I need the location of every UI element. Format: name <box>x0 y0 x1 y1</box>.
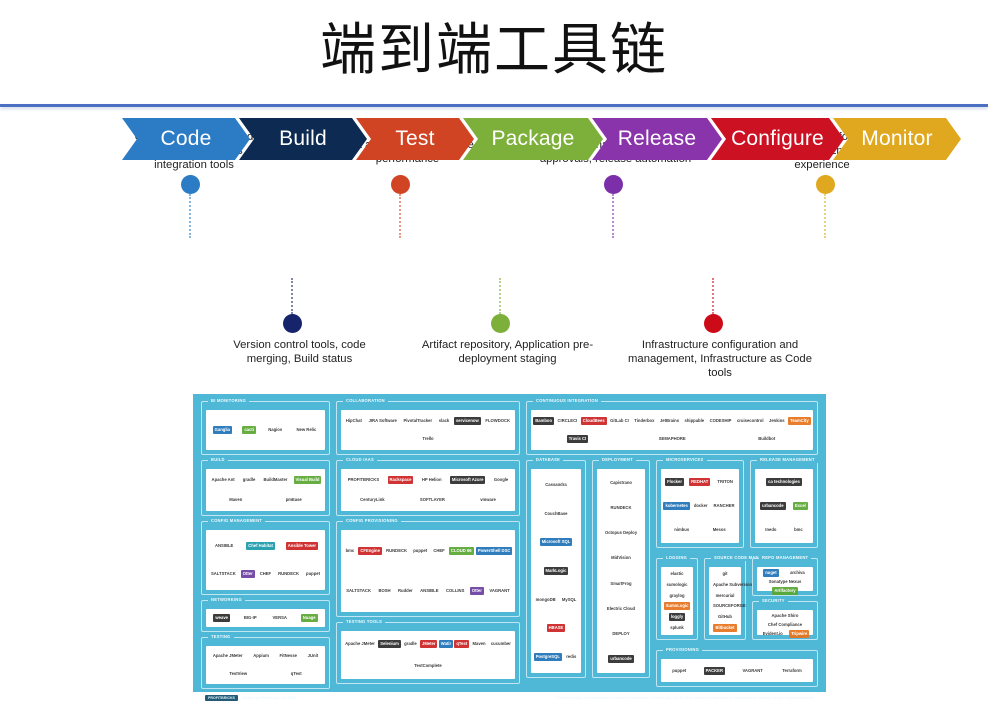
tool-logo: SEMAPHORE <box>657 435 688 443</box>
tool-logo: PACKER <box>704 667 725 675</box>
tool-logo: Inedo <box>763 526 778 534</box>
tool-logo: CouchBase <box>542 510 569 518</box>
tool-logo: Chef Habitat <box>246 542 275 550</box>
pipeline-bottom-stem-2 <box>712 278 714 314</box>
tool-logo: loggly <box>669 613 685 621</box>
tool-logo: Microsoft Azure <box>450 476 486 484</box>
poster-section-title: CONTINUOUS INTEGRATION <box>533 398 601 404</box>
tool-logo: CFEngine <box>358 547 382 555</box>
tool-logo: sumologic <box>665 581 690 589</box>
tool-logo: PROFITBRICKS <box>346 476 381 484</box>
tool-logo: Flocker <box>665 478 684 486</box>
tool-logo: bmc <box>344 547 357 555</box>
poster-section-logging: LOGGINGelasticsumologicgraylogSumoLogicl… <box>656 558 698 640</box>
tool-logo: VERSA <box>270 614 288 622</box>
tool-logo: Travis CI <box>567 435 588 443</box>
poster-subrow-1: MICROSERVICESFlockerREDHATTRITONkubernet… <box>656 460 818 548</box>
tool-logo: Appium <box>251 652 271 660</box>
tool-logo: FLOWDOCK <box>483 417 512 425</box>
tool-logo: cruisecontrol <box>735 417 766 425</box>
tool-logo: Cassandra <box>543 481 568 489</box>
page-title: 端到端工具链 <box>0 8 988 94</box>
poster-band-main: BUILDApache AntgradleBuildMasterVisual B… <box>201 460 818 689</box>
tool-logo: New Relic <box>295 426 319 434</box>
tool-logo: redis <box>564 653 578 661</box>
tool-logo: DEPLOY <box>610 630 631 638</box>
tool-logo: CenturyLink <box>358 496 386 504</box>
tool-logo: Mesos <box>711 526 728 534</box>
poster-logo-group: FlockerREDHATTRITONkubernetesdockerRANCH… <box>661 469 739 543</box>
tool-logo: Apache JMeter <box>343 640 377 648</box>
poster-subrow-2: LOGGINGelasticsumologicgraylogSumoLogicl… <box>656 558 818 640</box>
tool-logo: kubernetes <box>663 502 689 510</box>
tool-logo: Otter <box>470 587 484 595</box>
tool-logo: CIRCLECI <box>556 417 580 425</box>
poster-column-mid: COLLABORATIONHipChatJIRA SoftwarePivotal… <box>336 401 520 455</box>
poster-column-left: BI MONITORINGGangliacactiNagiosNew Relic <box>201 401 330 455</box>
tool-logo: Tinderbox <box>632 417 656 425</box>
poster-band-top: BI MONITORINGGangliacactiNagiosNew Relic… <box>201 401 818 455</box>
tool-logo: Bitbucket <box>713 624 736 632</box>
poster-section-title: BI MONITORING <box>208 398 249 404</box>
poster-logo-group: gitApache SubversionmercurialSOURCEFORGE… <box>709 567 741 635</box>
tool-logo: TestView <box>227 670 249 678</box>
poster-sub-microservices: MICROSERVICESFlockerREDHATTRITONkubernet… <box>656 460 744 548</box>
poster-col-b: CLOUD IAASPROFITBRICKSRackspaceHP Helion… <box>336 460 520 689</box>
poster-sub-logging: LOGGINGelasticsumologicgraylogSumoLogicl… <box>656 558 698 640</box>
tool-logo: RANCHER <box>712 502 737 510</box>
tool-logo: urbancode <box>760 502 785 510</box>
tool-logo: nimbus <box>672 526 691 534</box>
tool-logo: graylog <box>667 592 686 600</box>
tool-logo: TRITON <box>715 478 735 486</box>
poster-section-title: MICROSERVICES <box>663 457 707 463</box>
tool-logo: mongoDB <box>534 596 558 604</box>
poster-section-title: NETWORKING <box>208 597 245 603</box>
tool-logo: TeamCity <box>788 417 811 425</box>
tool-logo: Capistrano <box>608 479 634 487</box>
tool-logo: JMeter <box>420 640 438 648</box>
tool-logo: Jenkins <box>767 417 787 425</box>
tool-logo: REDHAT <box>689 478 710 486</box>
pipeline-stage-code[interactable]: Code <box>122 118 250 160</box>
poster-section-testing: TESTINGApache JMeterAppiumFitNesseJUnitT… <box>201 637 330 689</box>
poster-section-source-code-management: SOURCE CODE MANAGEMENTgitApache Subversi… <box>704 558 746 640</box>
tool-logo: Electric Cloud <box>605 605 637 613</box>
pipeline-top-dot-3 <box>816 175 835 194</box>
tool-logo: gradle <box>402 640 419 648</box>
tool-logo: Selenium <box>378 640 401 648</box>
pipeline-stage-release[interactable]: Release <box>592 118 722 160</box>
poster-section-build: BUILDApache AntgradleBuildMasterVisual B… <box>201 460 330 516</box>
poster-logo-group: Apache ShiroChef ComplianceEvident.ioTri… <box>757 610 813 635</box>
poster-brand: PROFITBRICKS <box>205 695 238 701</box>
poster-col-a: BUILDApache AntgradleBuildMasterVisual B… <box>201 460 330 689</box>
poster-subrow-3: PROVISIONINGpuppetPACKERVAGRANTTerraform <box>656 650 818 687</box>
tool-logo: Chef Compliance <box>766 621 804 629</box>
tool-logo: git <box>720 570 729 578</box>
tool-logo: HipChat <box>344 417 364 425</box>
poster-sub-release: RELEASE MANAGEMENTca technologiesurbanco… <box>750 460 818 548</box>
tool-logo: cacti <box>242 426 256 434</box>
tool-logo: Octopus Deploy <box>603 529 639 537</box>
poster-sub-scm: SOURCE CODE MANAGEMENTgitApache Subversi… <box>704 558 746 640</box>
tool-logo: Apache Ant <box>210 476 237 484</box>
poster-logo-group: elasticsumologicgraylogSumoLogiclogglysp… <box>661 567 693 635</box>
tool-logo: Google <box>492 476 510 484</box>
pipeline-top-stem-0 <box>189 194 191 238</box>
poster-section-title: RELEASE MANAGEMENT <box>757 457 818 463</box>
tool-logo: RUNDECK <box>276 570 301 578</box>
tool-logo: HBASE <box>547 624 566 632</box>
poster-legal: ProfitBricks logo are trademarks or regi… <box>556 695 814 701</box>
poster-logo-group: HipChatJIRA SoftwarePivotalTrackerslacks… <box>341 410 515 450</box>
tool-logo: Watir <box>439 640 453 648</box>
poster-section-security: SECURITYApache ShiroChef ComplianceEvide… <box>752 601 818 640</box>
poster-section-networking: NETWORKINGweaveBIG-IPVERSANuage <box>201 600 330 632</box>
poster-section-config-management: CONFIG MANAGEMENTANSIBLEChef HabitatAnsi… <box>201 521 330 595</box>
poster-logo-group: Apache JMeterSeleniumgradleJMeterWatirqT… <box>341 631 515 679</box>
pipeline-stage-package[interactable]: Package <box>463 118 603 160</box>
tool-logo: Rudder <box>396 587 415 595</box>
tool-logo: BIG-IP <box>242 614 259 622</box>
poster-section-title: COLLABORATION <box>343 398 388 404</box>
pipeline-bottom-dot-1 <box>491 314 510 333</box>
tool-logo: Bamboo <box>533 417 554 425</box>
poster-section-title: TESTING TOOLS <box>343 619 385 625</box>
pipeline-top-dot-0 <box>181 175 200 194</box>
tool-logo: GitLab CI <box>608 417 631 425</box>
pipeline-stage-test[interactable]: Test <box>356 118 474 160</box>
poster-section-microservices: MICROSERVICESFlockerREDHATTRITONkubernet… <box>656 460 744 548</box>
tool-logo: archiva <box>788 569 807 577</box>
tool-logo: Microsoft SQL <box>540 538 573 546</box>
tool-logo: puppet <box>670 667 688 675</box>
tool-logo: Terraform <box>780 667 803 675</box>
poster-section-title: TESTING <box>208 634 234 640</box>
tool-logo: ANSIBLE <box>418 587 440 595</box>
tool-logo: PowerShell DSC <box>476 547 513 555</box>
pipeline-stage-label: Release <box>618 127 696 151</box>
tool-logo: Artifactory <box>772 587 797 595</box>
poster-col-right: MICROSERVICESFlockerREDHATTRITONkubernet… <box>656 460 818 689</box>
pipeline-top-stem-3 <box>824 194 826 238</box>
poster-logo-group: PROFITBRICKSRackspaceHP HelionMicrosoft … <box>341 469 515 511</box>
poster-section-config-provisioning: CONFIG PROVISIONINGbmcCFEngineRUNDECKpup… <box>336 521 520 617</box>
poster-logo-group: ca technologiesurbancodeExcelInedobmc <box>755 469 813 543</box>
tool-logo: Maven <box>227 496 244 504</box>
poster-logo-group: BambooCIRCLECICloudBeesGitLab CITinderbo… <box>531 410 813 450</box>
pipeline-stage-label: Build <box>279 127 327 151</box>
pipeline-stage-monitor[interactable]: Monitor <box>833 118 961 160</box>
poster-section-title: CONFIG PROVISIONING <box>343 518 401 524</box>
tool-logo: BuildMaster <box>261 476 289 484</box>
tool-logo: docker <box>692 502 710 510</box>
poster-section-title: CONFIG MANAGEMENT <box>208 518 265 524</box>
tool-logo: SmartFrog <box>608 580 633 588</box>
poster-logo-group: CassandraCouchBaseMicrosoft SQLMarkLogic… <box>531 469 581 673</box>
tool-logo: Ganglia <box>213 426 232 434</box>
poster-section-title: LOGGING <box>663 555 690 561</box>
tool-logo: Nagios <box>266 426 284 434</box>
tool-logo: Sonatype Nexus <box>767 578 804 586</box>
tool-logo: VAGRANT <box>487 587 511 595</box>
tool-logo: Evident.io <box>761 630 785 638</box>
tool-logo: VAGRANT <box>740 667 764 675</box>
poster-col-deployment: DEPLOYMENTCapistranoRUNDECKOctopus Deplo… <box>592 460 650 689</box>
tool-logo: CloudBees <box>581 417 607 425</box>
poster-section-release-management: RELEASE MANAGEMENTca technologiesurbanco… <box>750 460 818 548</box>
tool-logo: RUNDECK <box>384 547 409 555</box>
poster-section-title: DEPLOYMENT <box>599 457 636 463</box>
tool-logo: cucumber <box>489 640 513 648</box>
tool-logo: Otter <box>241 570 255 578</box>
tool-logo: Trello <box>420 435 435 443</box>
poster-section-title: CLOUD IAAS <box>343 457 377 463</box>
poster-logo-group: nugetarchivaSonatype NexusArtifactory <box>757 567 813 591</box>
tool-logo: SOFTLAYER <box>418 496 447 504</box>
poster-logo-group: Apache JMeterAppiumFitNesseJUnitTestView… <box>206 646 325 684</box>
poster-section-cloud-iaas: CLOUD IAASPROFITBRICKSRackspaceHP Helion… <box>336 460 520 516</box>
tool-logo: JUnit <box>306 652 320 660</box>
poster-logo-group: CapistranoRUNDECKOctopus DeployMidVision… <box>597 469 645 673</box>
tool-logo: MySQL <box>560 596 578 604</box>
tool-logo: FitNesse <box>278 652 299 660</box>
tool-logo: GitHub <box>716 613 734 621</box>
pipeline-stage-configure[interactable]: Configure <box>711 118 844 160</box>
tool-logo: pmEase <box>284 496 304 504</box>
tool-logo: COLLINS <box>444 587 466 595</box>
tool-logo: MidVision <box>609 554 633 562</box>
tool-logo: TestComplete <box>412 662 443 670</box>
tool-logo: Rackspace <box>388 476 414 484</box>
poster-logo-group: Apache AntgradleBuildMasterVisual BuildM… <box>206 469 325 511</box>
poster-section-continuous-integration: CONTINUOUS INTEGRATIONBambooCIRCLECIClou… <box>526 401 818 455</box>
tool-logo: Ansible Tower <box>286 542 318 550</box>
tool-logo: puppet <box>304 570 322 578</box>
tool-logo: ANSIBLE <box>213 542 235 550</box>
tool-logo: qTest <box>454 640 469 648</box>
tool-logo: CHEF <box>431 547 446 555</box>
tool-logo: CODESHIP <box>708 417 734 425</box>
poster-section-title: PROVISIONING <box>663 647 702 653</box>
poster-credit: Created by ProfitBricks, Inc. 2015 <box>242 695 296 701</box>
poster-logo-group: weaveBIG-IPVERSANuage <box>206 609 325 627</box>
pipeline-stage-build[interactable]: Build <box>239 118 367 160</box>
pipeline-stage-label: Configure <box>731 127 824 151</box>
tool-logo: Visual Build <box>294 476 322 484</box>
pipeline-top-dot-2 <box>604 175 623 194</box>
tool-logo: SOURCEFORGE <box>711 602 748 610</box>
poster-section-deployment: DEPLOYMENTCapistranoRUNDECKOctopus Deplo… <box>592 460 650 678</box>
tool-logo: urbancode <box>608 655 633 663</box>
pipeline-bottom-dot-0 <box>283 314 302 333</box>
tool-logo: qTest <box>289 670 304 678</box>
tool-logo: JetBrains <box>658 417 681 425</box>
tool-logo: MarkLogic <box>544 567 569 575</box>
tool-logo: Tripwire <box>789 630 809 638</box>
tool-logo: slack <box>437 417 451 425</box>
tool-logo: HP Helion <box>420 476 444 484</box>
tool-logo: shippable <box>683 417 707 425</box>
tool-logo: Maven <box>471 640 488 648</box>
tool-logo: PivotalTracker <box>401 417 434 425</box>
tool-logo: CLOUD 66 <box>449 547 474 555</box>
pipeline-stage-label: Code <box>160 127 211 151</box>
poster-section-provisioning: PROVISIONINGpuppetPACKERVAGRANTTerraform <box>656 650 818 687</box>
tool-logo: SALTSTACK <box>209 570 238 578</box>
tool-logo: splunk <box>668 624 686 632</box>
tool-logo: ca technologies <box>766 478 802 486</box>
pipeline-bottom-stem-0 <box>291 278 293 314</box>
poster-logo-group: ANSIBLEChef HabitatAnsible TowerSALTSTAC… <box>206 530 325 590</box>
poster-section-repo-management: REPO MANAGEMENTnugetarchivaSonatype Nexu… <box>752 558 818 596</box>
tool-logo: gradle <box>241 476 258 484</box>
pipeline-top-dot-1 <box>391 175 410 194</box>
tool-logo: elastic <box>668 570 685 578</box>
tool-logo: PostgreSQL <box>534 653 562 661</box>
poster-sub-repo-security: REPO MANAGEMENTnugetarchivaSonatype Nexu… <box>752 558 818 640</box>
poster-section-title: SECURITY <box>759 598 788 604</box>
tool-logo: BOSH <box>376 587 392 595</box>
tool-logo: Apache Subversion <box>711 581 754 589</box>
tool-logo: JIRA Software <box>367 417 399 425</box>
poster-section-title: BUILD <box>208 457 228 463</box>
tool-logo: Buildbot <box>756 435 777 443</box>
poster-section-title: REPO MANAGEMENT <box>759 555 811 561</box>
title-divider <box>0 104 988 107</box>
pipeline-top-stem-1 <box>399 194 401 238</box>
poster-section-collaboration: COLLABORATIONHipChatJIRA SoftwarePivotal… <box>336 401 520 455</box>
poster-logo-group: puppetPACKERVAGRANTTerraform <box>661 659 813 682</box>
tool-logo: vmware <box>478 496 498 504</box>
poster-section-testing-tools: TESTING TOOLSApache JMeterSeleniumgradle… <box>336 622 520 684</box>
pipeline-bottom-callout-0: Version control tools, code merging, Bui… <box>212 338 387 366</box>
poster-footer: PROFITBRICKS Created by ProfitBricks, In… <box>201 694 818 701</box>
poster-col-database: DATABASECassandraCouchBaseMicrosoft SQLM… <box>526 460 586 689</box>
pipeline-bottom-callout-1: Artifact repository, Application pre-dep… <box>420 338 595 366</box>
tool-logo: bmc <box>792 526 805 534</box>
tool-logo: Excel <box>793 502 808 510</box>
pipeline-bottom-stem-1 <box>499 278 501 314</box>
tool-logo: puppet <box>411 547 429 555</box>
tool-logo: SALTSTACK <box>344 587 373 595</box>
poster-column-right: CONTINUOUS INTEGRATIONBambooCIRCLECIClou… <box>526 401 818 455</box>
tool-logo: weave <box>213 614 230 622</box>
poster-logo-group: bmcCFEngineRUNDECKpuppetCHEFCLOUD 66Powe… <box>341 530 515 612</box>
tool-logo: servicenow <box>454 417 481 425</box>
pipeline-top-stem-2 <box>612 194 614 238</box>
pipeline-stage-label: Package <box>491 127 574 151</box>
poster-section-title: DATABASE <box>533 457 563 463</box>
pipeline-bottom-dot-2 <box>704 314 723 333</box>
pipeline-bottom-callout-2: Infrastructure configuration and managem… <box>625 338 815 381</box>
tool-logo: Apache Shiro <box>770 612 801 620</box>
tool-logo: Nuage <box>301 614 318 622</box>
poster-section-bi-monitoring: BI MONITORINGGangliacactiNagiosNew Relic <box>201 401 330 455</box>
tool-logo: CHEF <box>258 570 273 578</box>
pipeline-stage-label: Test <box>395 127 434 151</box>
tool-logo: Apache JMeter <box>211 652 245 660</box>
tool-logo: nuget <box>763 569 778 577</box>
tool-logo: mercurial <box>714 592 737 600</box>
poster-section-database: DATABASECassandraCouchBaseMicrosoft SQLM… <box>526 460 586 678</box>
tool-logo: SumoLogic <box>664 602 691 610</box>
pipeline-stage-label: Monitor <box>861 127 932 151</box>
devops-tools-poster: BI MONITORINGGangliacactiNagiosNew Relic… <box>193 394 826 692</box>
poster-sub-provisioning: PROVISIONINGpuppetPACKERVAGRANTTerraform <box>656 650 818 687</box>
tool-logo: RUNDECK <box>609 504 634 512</box>
poster-logo-group: GangliacactiNagiosNew Relic <box>206 410 325 450</box>
